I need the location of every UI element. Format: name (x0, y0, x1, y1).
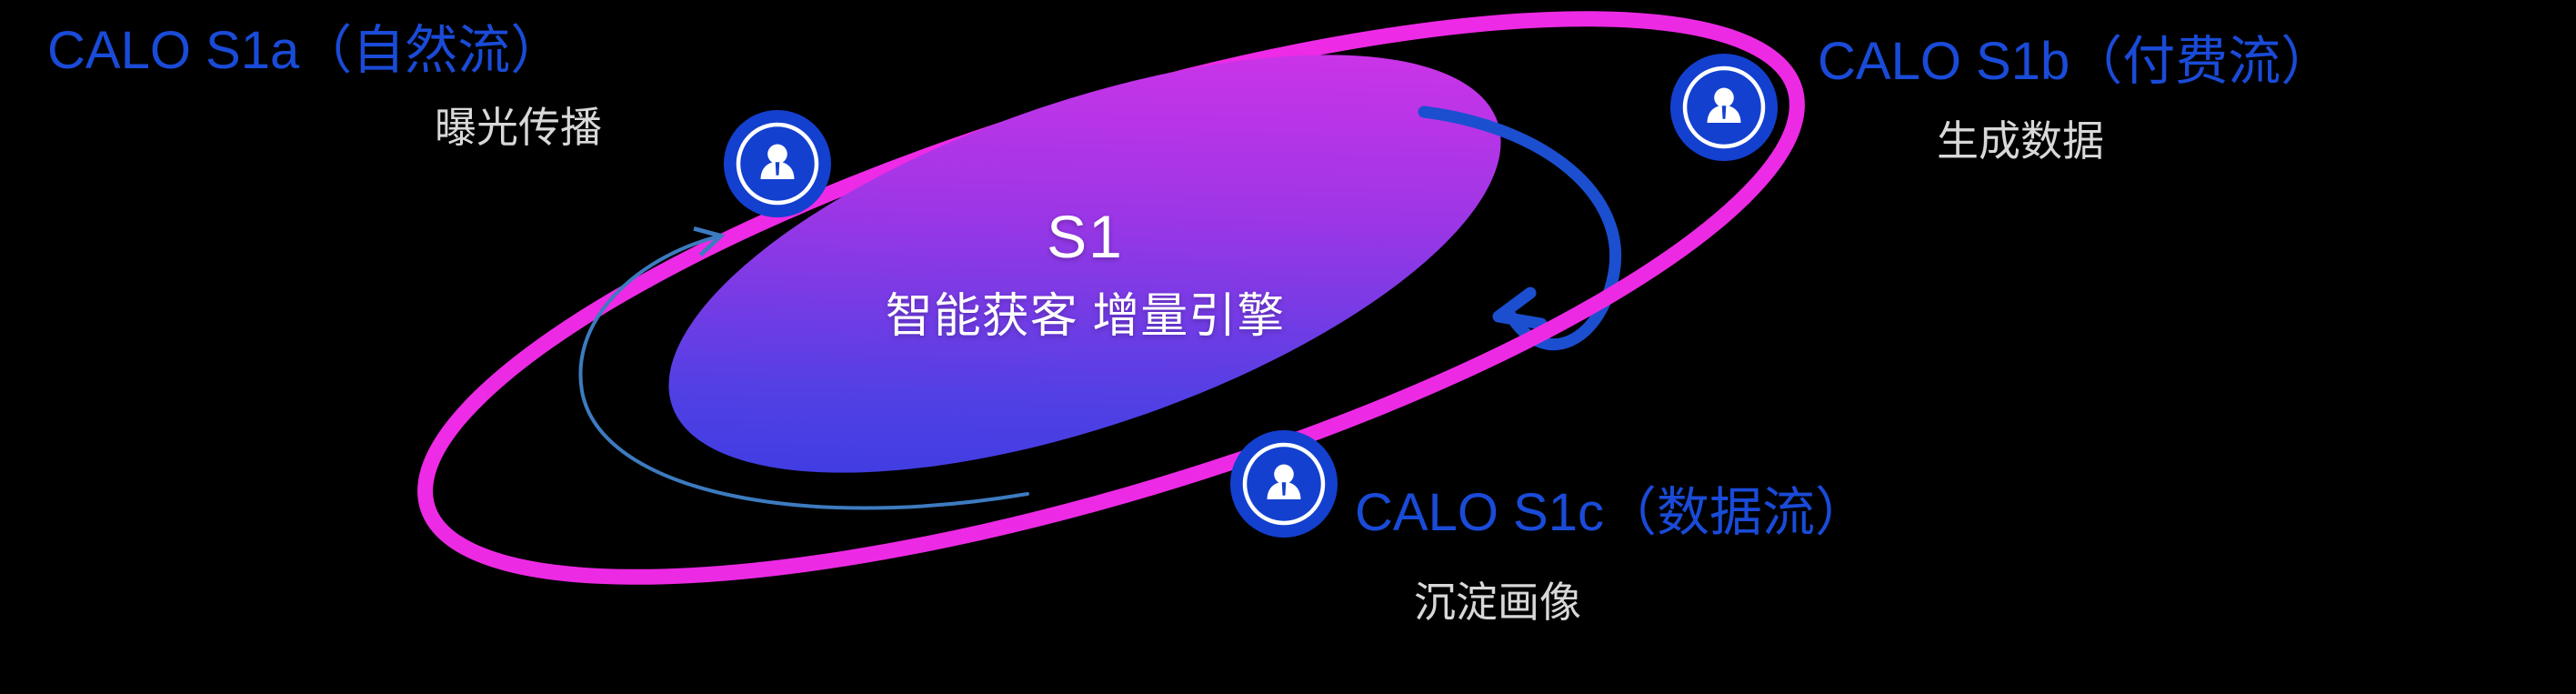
diagram-canvas: S1 智能获客 增量引擎 CALO S1a（自然流） 曝光传播 CALO S1b… (0, 0, 2576, 694)
node-s1b[interactable] (1670, 54, 1778, 161)
core-ellipse (619, 0, 1550, 559)
orbit-diagram (0, 0, 2576, 694)
flow-label-s1c: CALO S1c（数据流） (1355, 484, 1868, 543)
flow-sublabel-s1a: 曝光传播 (435, 105, 602, 152)
flow-label-s1b: CALO S1b（付费流） (1818, 33, 2333, 92)
node-s1c[interactable] (1230, 430, 1338, 538)
flow-sublabel-s1c: 沉淀画像 (1414, 579, 1581, 627)
flow-label-s1a: CALO S1a（自然流） (47, 22, 563, 81)
node-s1a[interactable] (724, 110, 831, 217)
flow-sublabel-s1b: 生成数据 (1937, 118, 2104, 166)
